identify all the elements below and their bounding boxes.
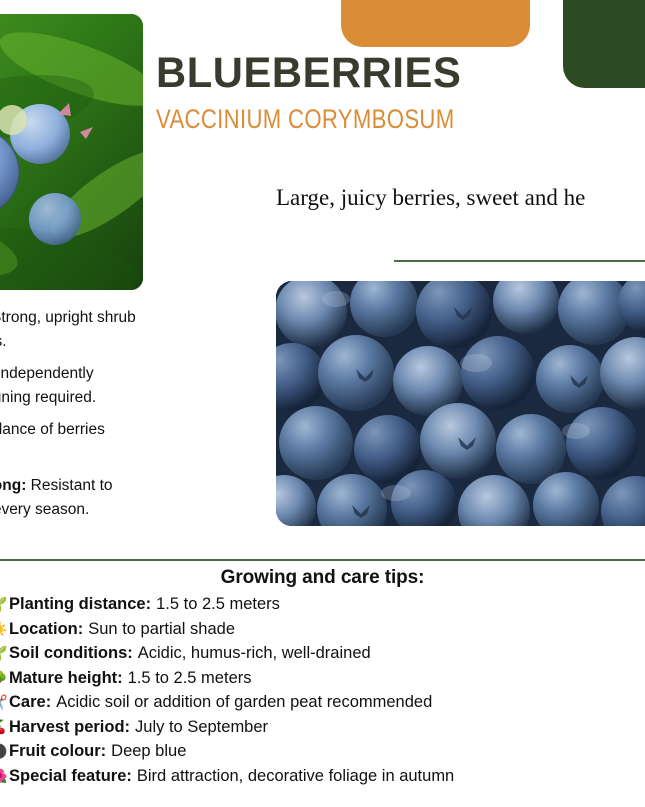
tip-value: Deep blue	[111, 742, 186, 761]
feature-list-item: maintenance: Independently ing, minimal …	[0, 362, 272, 409]
feature-value-cont: sturdy branches.	[0, 333, 7, 350]
list-item: 🌳 Mature height: 1.5 to 2.5 meters	[0, 669, 645, 694]
tip-key: Planting distance:	[9, 595, 151, 614]
feature-value-cont: and reliable in every season.	[0, 501, 89, 518]
list-item: ✂️ Care: Acidic soil or addition of gard…	[0, 693, 645, 718]
tip-value: 1.5 to 2.5 meters	[128, 669, 252, 688]
tip-value: Acidic, humus-rich, well-drained	[138, 644, 371, 663]
berries-photo	[276, 281, 645, 526]
divider-above-tips	[0, 559, 645, 561]
hero-leaf-photo	[0, 14, 143, 290]
feature-value: An abundance of berries	[0, 421, 105, 438]
list-item: 🌱 Planting distance: 1.5 to 2.5 meters	[0, 595, 645, 620]
blueberry-icon: ⚫	[0, 742, 9, 761]
page-title: BLUEBERRIES	[156, 50, 612, 97]
page-subtitle-latin-name: VACCINIUM CORYMBOSUM	[156, 104, 541, 135]
tip-key: Fruit colour:	[9, 742, 106, 761]
seedling-icon: 🌱	[0, 595, 9, 614]
tagline: Large, juicy berries, sweet and he	[276, 183, 645, 213]
tip-value: Sun to partial shade	[88, 620, 235, 639]
seedling-icon: 🌱	[0, 644, 9, 663]
list-item: ⚫ Fruit colour: Deep blue	[0, 742, 645, 767]
list-item: 🌺 Special feature: Bird attraction, deco…	[0, 767, 645, 792]
tip-value: Bird attraction, decorative foliage in a…	[137, 767, 454, 786]
tip-value: 1.5 to 2.5 meters	[156, 595, 280, 614]
scissors-icon: ✂️	[0, 693, 9, 712]
tips-heading: Growing and care tips:	[0, 567, 645, 589]
tip-key: Harvest period:	[9, 718, 130, 737]
header-title-block: BLUEBERRIES VACCINIUM CORYMBOSUM	[156, 50, 626, 135]
decor-shape-orange	[341, 0, 530, 47]
tip-key: Mature height:	[9, 669, 123, 688]
cherries-icon: 🍒	[0, 718, 9, 737]
flower-icon: 🌺	[0, 767, 9, 786]
list-item: 🌱 Soil conditions: Acidic, humus-rich, w…	[0, 644, 645, 669]
tip-key: Soil conditions:	[9, 644, 133, 663]
divider-under-tagline	[394, 260, 645, 262]
feature-value: Resistant to	[31, 477, 113, 494]
tip-value: July to September	[135, 718, 268, 737]
tip-value: Acidic soil or addition of garden peat r…	[56, 693, 432, 712]
tip-key: Care:	[9, 693, 51, 712]
feature-list-item: rous growth: Strong, upright shrub sturd…	[0, 306, 272, 353]
feature-list-item: yield: An abundance of berries after yea…	[0, 418, 272, 465]
feature-value: Independently	[0, 365, 94, 382]
tips-list: 🌱 Planting distance: 1.5 to 2.5 meters ☀…	[0, 595, 645, 791]
feature-value-cont: ing, minimal pruning required.	[0, 389, 96, 406]
tip-key: Location:	[9, 620, 83, 639]
tree-icon: 🌳	[0, 669, 9, 688]
sun-icon: ☀️	[0, 620, 9, 639]
feature-value: Strong, upright shrub	[0, 309, 136, 326]
feature-key: er hardy & strong:	[0, 477, 26, 494]
feature-list: rous growth: Strong, upright shrub sturd…	[0, 306, 272, 530]
tip-key: Special feature:	[9, 767, 132, 786]
feature-list-item: er hardy & strong: Resistant to and reli…	[0, 474, 272, 521]
list-item: ☀️ Location: Sun to partial shade	[0, 620, 645, 645]
list-item: 🍒 Harvest period: July to September	[0, 718, 645, 743]
